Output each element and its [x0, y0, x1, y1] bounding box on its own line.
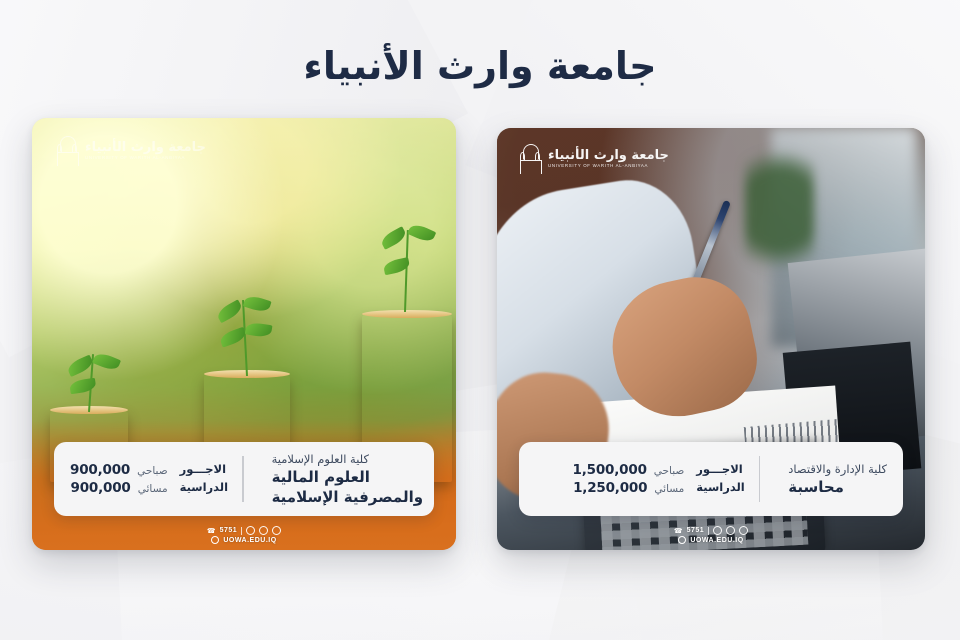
fees-label-line2: الدراسية [696, 479, 744, 497]
instagram-icon[interactable] [259, 526, 268, 535]
dome-emblem-icon [56, 136, 78, 166]
course-card-accounting[interactable]: جامعة وارث الأنبياء UNIVERSITY OF WARITH… [497, 128, 925, 550]
logo-arabic-text: جامعة وارث الأنبياء [85, 141, 206, 154]
logo-english-text: UNIVERSITY OF WARITH AL-ANBIYAA [548, 164, 648, 168]
globe-icon [211, 536, 219, 544]
facebook-icon[interactable] [713, 526, 722, 535]
fees-rows: صباحي 900,000 مسائي 900,000 [70, 462, 168, 496]
fees-block: الاجـــور الدراسية صباحي 900,000 مسائي 9… [70, 461, 228, 497]
department-name-line1: العلوم المالية [272, 468, 370, 487]
fee-amount: 1,250,000 [573, 480, 647, 496]
department-name-line1: محاسبة [788, 478, 844, 497]
website-url: UOWA.EDU.IQ [690, 537, 743, 544]
fees-label: الاجـــور الدراسية [696, 461, 744, 497]
telegram-icon[interactable] [739, 526, 748, 535]
fee-shift: صباحي [137, 465, 168, 477]
department-name-line2: والمصرفية الإسلامية [272, 488, 424, 507]
card-footer-contact: ☎ 5751 UOWA.EDU.IQ [32, 526, 456, 544]
fee-row: مسائي 1,250,000 [573, 480, 685, 496]
fees-label-line1: الاجـــور [180, 461, 226, 479]
card-info-panel: كلية الإدارة والاقتصاد محاسبة الاجـــور … [519, 442, 903, 516]
fee-amount: 900,000 [71, 480, 131, 496]
panel-divider [759, 456, 761, 502]
logo-english-text: UNIVERSITY OF WARITH AL-ANBIYAA [85, 156, 185, 160]
fee-shift: مسائي [654, 483, 684, 495]
phone-icon: ☎ [207, 527, 216, 535]
instagram-icon[interactable] [726, 526, 735, 535]
website-url: UOWA.EDU.IQ [223, 537, 276, 544]
phone-icon: ☎ [674, 527, 683, 535]
program-names: كلية الإدارة والاقتصاد محاسبة [774, 461, 887, 497]
fee-amount: 900,000 [70, 462, 130, 478]
telegram-icon[interactable] [272, 526, 281, 535]
card-info-panel: كلية العلوم الإسلامية العلوم المالية وال… [54, 442, 434, 516]
fees-block: الاجـــور الدراسية صباحي 1,500,000 مسائي… [573, 461, 745, 497]
course-card-islamic-finance[interactable]: جامعة وارث الأنبياء UNIVERSITY OF WARITH… [32, 118, 456, 550]
fees-label-line2: الدراسية [180, 479, 228, 497]
faculty-name: كلية العلوم الإسلامية [272, 451, 369, 468]
fee-row: صباحي 900,000 [70, 462, 168, 478]
dome-emblem-icon [519, 144, 541, 174]
globe-icon [678, 536, 686, 544]
phone-number: 5751 [220, 527, 238, 534]
fees-rows: صباحي 1,500,000 مسائي 1,250,000 [573, 462, 685, 496]
fee-row: صباحي 1,500,000 [573, 462, 685, 478]
fee-shift: صباحي [654, 465, 685, 477]
page-background: جامعة وارث الأنبياء [0, 0, 960, 640]
panel-divider [242, 456, 244, 502]
phone-number: 5751 [687, 527, 705, 534]
page-title: جامعة وارث الأنبياء [0, 44, 960, 90]
fees-label: الاجـــور الدراسية [180, 461, 228, 497]
logo-arabic-text: جامعة وارث الأنبياء [548, 149, 669, 162]
faculty-name: كلية الإدارة والاقتصاد [788, 461, 887, 478]
program-names: كلية العلوم الإسلامية العلوم المالية وال… [258, 451, 418, 507]
university-logo: جامعة وارث الأنبياء UNIVERSITY OF WARITH… [56, 136, 206, 166]
fees-label-line1: الاجـــور [696, 461, 742, 479]
university-logo: جامعة وارث الأنبياء UNIVERSITY OF WARITH… [519, 144, 669, 174]
fee-row: مسائي 900,000 [70, 480, 168, 496]
facebook-icon[interactable] [246, 526, 255, 535]
card-footer-contact: ☎ 5751 UOWA.EDU.IQ [497, 526, 925, 544]
fee-amount: 1,500,000 [573, 462, 647, 478]
fee-shift: مسائي [138, 483, 168, 495]
